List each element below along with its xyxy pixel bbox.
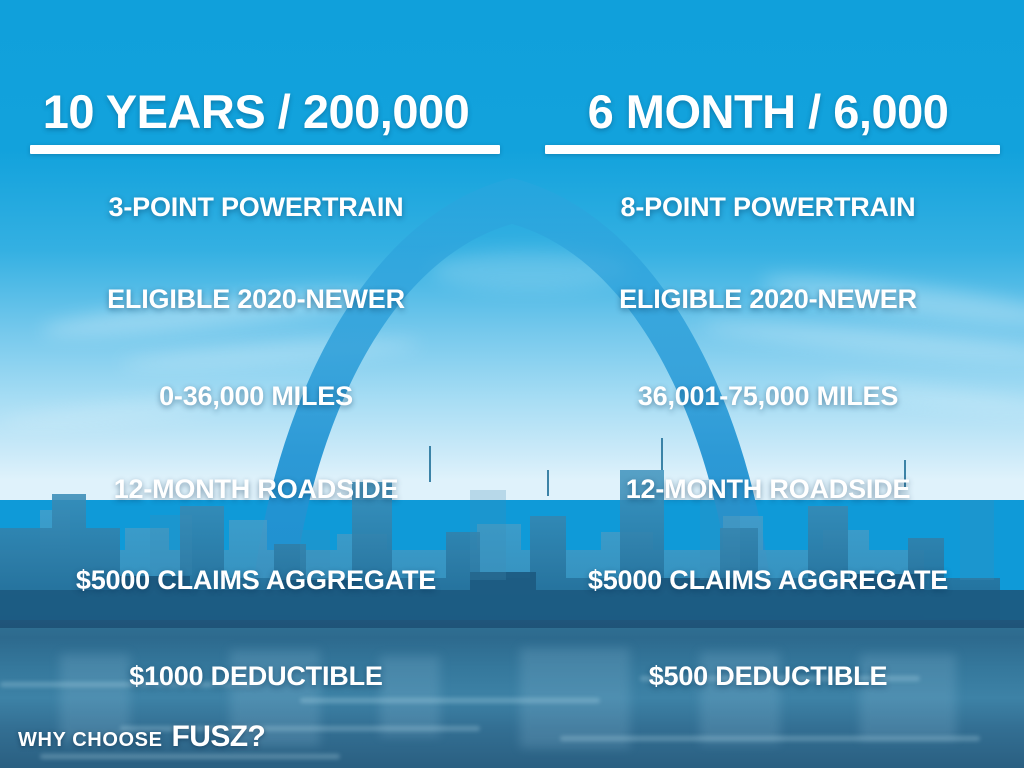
headline-underline-right <box>545 145 1000 154</box>
plan-feature-left-3: 0-36,000 MILES <box>0 381 512 412</box>
plan-feature-left-5: $5000 CLAIMS AGGREGATE <box>0 565 512 596</box>
brand-lockup: WHY CHOOSE FUSZ? <box>18 720 265 754</box>
plan-headline-left: 10 YEARS / 200,000 <box>0 88 512 135</box>
warranty-comparison-poster: 10 YEARS / 200,000 3-POINT POWERTRAIN EL… <box>0 0 1024 768</box>
plan-feature-right-2: ELIGIBLE 2020-NEWER <box>512 284 1024 315</box>
plan-feature-right-4: 12-MONTH ROADSIDE <box>512 474 1024 505</box>
plan-feature-right-3: 36,001-75,000 MILES <box>512 381 1024 412</box>
plan-feature-right-1: 8-POINT POWERTRAIN <box>512 192 1024 223</box>
brand-name: FUSZ? <box>172 720 266 754</box>
plan-column-right: 6 MONTH / 6,000 8-POINT POWERTRAIN ELIGI… <box>512 0 1024 768</box>
plan-feature-right-5: $5000 CLAIMS AGGREGATE <box>512 565 1024 596</box>
plan-feature-right-6: $500 DEDUCTIBLE <box>512 661 1024 692</box>
plan-feature-left-1: 3-POINT POWERTRAIN <box>0 192 512 223</box>
plan-column-left: 10 YEARS / 200,000 3-POINT POWERTRAIN EL… <box>0 0 512 768</box>
plan-feature-left-4: 12-MONTH ROADSIDE <box>0 474 512 505</box>
headline-underline-left <box>30 145 500 154</box>
poster-content: 10 YEARS / 200,000 3-POINT POWERTRAIN EL… <box>0 0 1024 768</box>
plan-feature-left-2: ELIGIBLE 2020-NEWER <box>0 284 512 315</box>
plan-headline-right: 6 MONTH / 6,000 <box>512 88 1024 135</box>
brand-prefix: WHY CHOOSE <box>18 729 163 752</box>
plan-feature-left-6: $1000 DEDUCTIBLE <box>0 661 512 692</box>
